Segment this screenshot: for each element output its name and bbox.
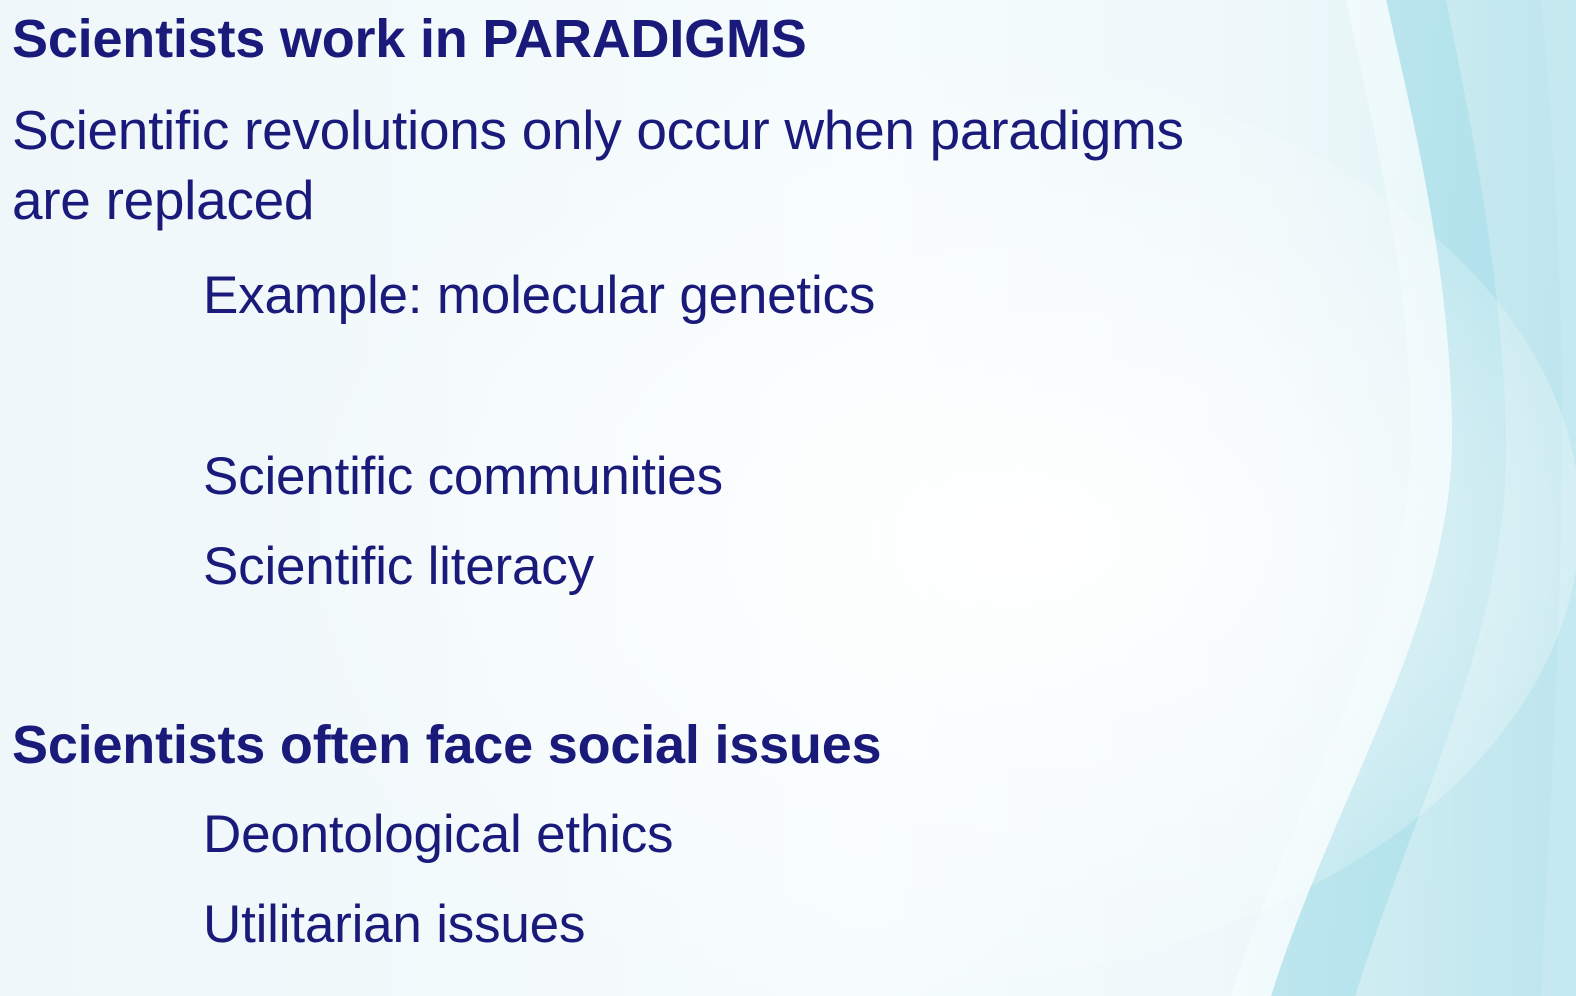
- body-example-molecular-genetics: Example: molecular genetics: [203, 269, 875, 322]
- heading-scientists-often-face-social-issues: Scientists often face social issues: [12, 718, 881, 772]
- body-scientific-communities: Scientific communities: [203, 450, 723, 503]
- body-scientific-revolutions-line-2: are replaced: [12, 173, 314, 228]
- heading-scientists-work-in-paradigms: Scientists work in PARADIGMS: [12, 12, 807, 66]
- body-deontological-ethics: Deontological ethics: [203, 808, 673, 861]
- body-scientific-literacy: Scientific literacy: [203, 540, 594, 593]
- slide-text-content: Scientists work in PARADIGMS Scientific …: [0, 0, 1576, 996]
- body-scientific-revolutions-line-1: Scientific revolutions only occur when p…: [12, 103, 1184, 158]
- presentation-slide: Scientists work in PARADIGMS Scientific …: [0, 0, 1576, 996]
- body-utilitarian-issues: Utilitarian issues: [203, 898, 585, 951]
